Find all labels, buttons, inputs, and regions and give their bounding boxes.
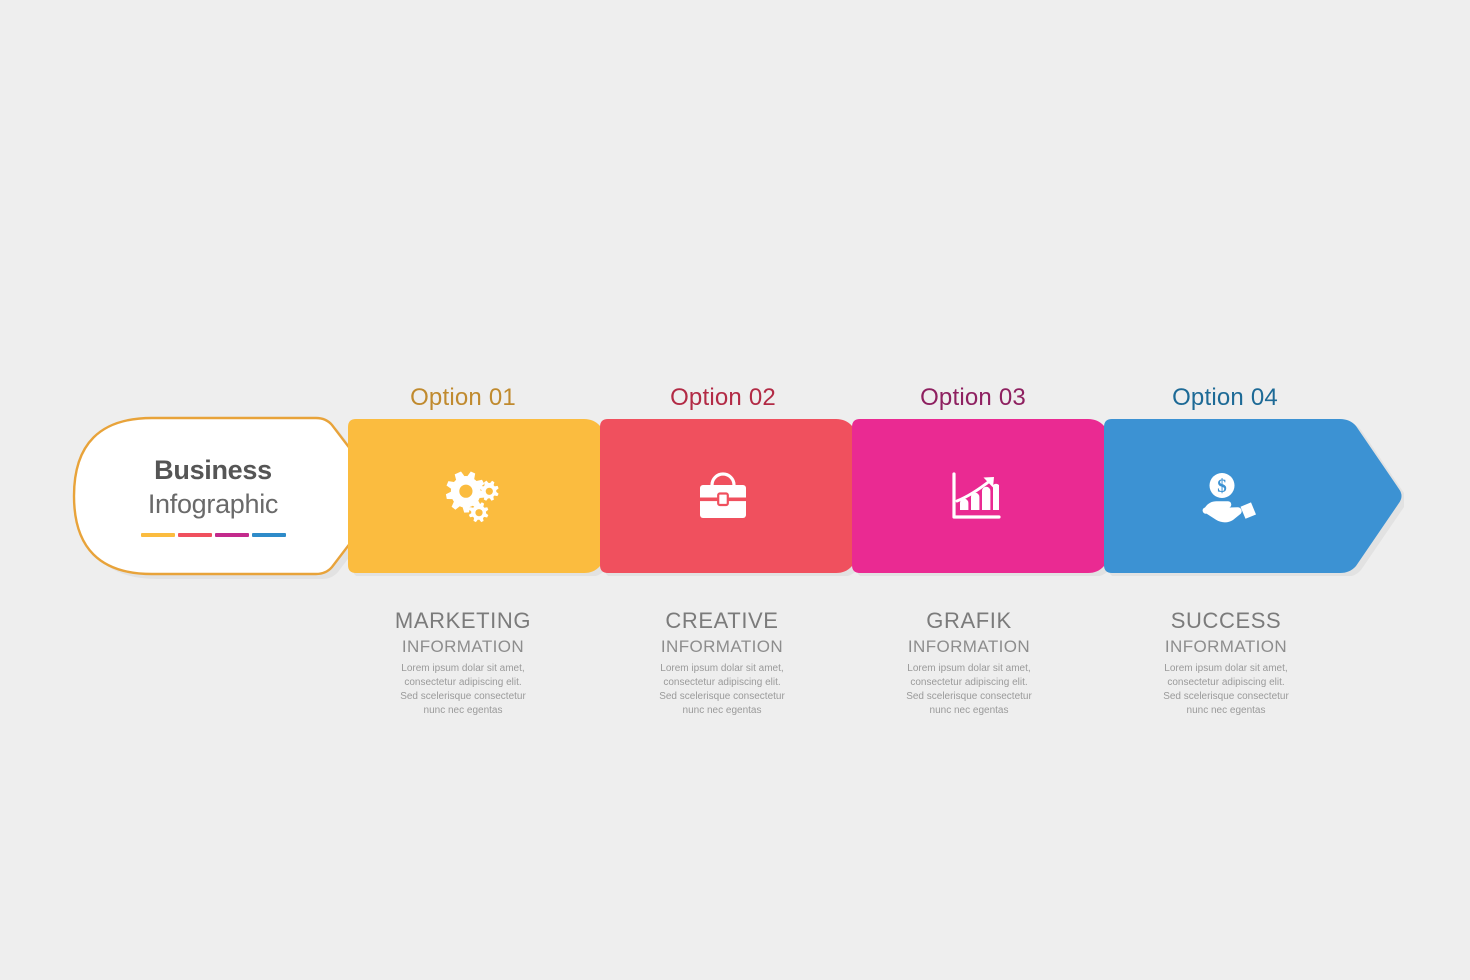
step-subheading-3: INFORMATION [843, 637, 1095, 657]
step-body-2: Lorem ipsum dolar sit amet, consectetur … [596, 662, 848, 719]
step-subheading-1: INFORMATION [337, 637, 589, 657]
step-chevron-4[interactable]: $ [1102, 416, 1404, 576]
step-heading-4: SUCCESS [1100, 608, 1352, 633]
step-body-3: Lorem ipsum dolar sit amet, consectetur … [843, 662, 1095, 719]
step-description-4: SUCCESS INFORMATION Lorem ipsum dolar si… [1100, 608, 1352, 719]
underline-bar-4 [252, 533, 286, 537]
step-heading-1: MARKETING [337, 608, 589, 633]
option-label-3: Option 03 [848, 384, 1098, 412]
title-main: Business [154, 455, 272, 486]
option-label-3-text: Option 03 [920, 384, 1026, 411]
underline-bar-2 [178, 533, 212, 537]
title-card-text: Business Infographic [68, 412, 358, 580]
title-underline-bars [141, 533, 286, 537]
step-heading-3: GRAFIK [843, 608, 1095, 633]
business-infographic: Option 01 Option 02 Option 03 Option 04 … [0, 0, 1470, 980]
step-subheading-2: INFORMATION [596, 637, 848, 657]
title-sub: Infographic [148, 488, 278, 520]
step-description-2: CREATIVE INFORMATION Lorem ipsum dolar s… [596, 608, 848, 719]
step-body-4: Lorem ipsum dolar sit amet, consectetur … [1100, 662, 1352, 719]
option-label-1: Option 01 [338, 384, 588, 412]
underline-bar-3 [215, 533, 249, 537]
option-label-2: Option 02 [598, 384, 848, 412]
step-description-3: GRAFIK INFORMATION Lorem ipsum dolar sit… [843, 608, 1095, 719]
title-card: Business Infographic [68, 412, 388, 580]
option-label-4-text: Option 04 [1172, 384, 1278, 411]
option-label-1-text: Option 01 [410, 384, 516, 411]
step-description-1: MARKETING INFORMATION Lorem ipsum dolar … [337, 608, 589, 719]
step-heading-2: CREATIVE [596, 608, 848, 633]
underline-bar-1 [141, 533, 175, 537]
step-subheading-4: INFORMATION [1100, 637, 1352, 657]
step-body-1: Lorem ipsum dolar sit amet, consectetur … [337, 662, 589, 719]
option-label-2-text: Option 02 [670, 384, 776, 411]
option-label-4: Option 04 [1100, 384, 1350, 412]
